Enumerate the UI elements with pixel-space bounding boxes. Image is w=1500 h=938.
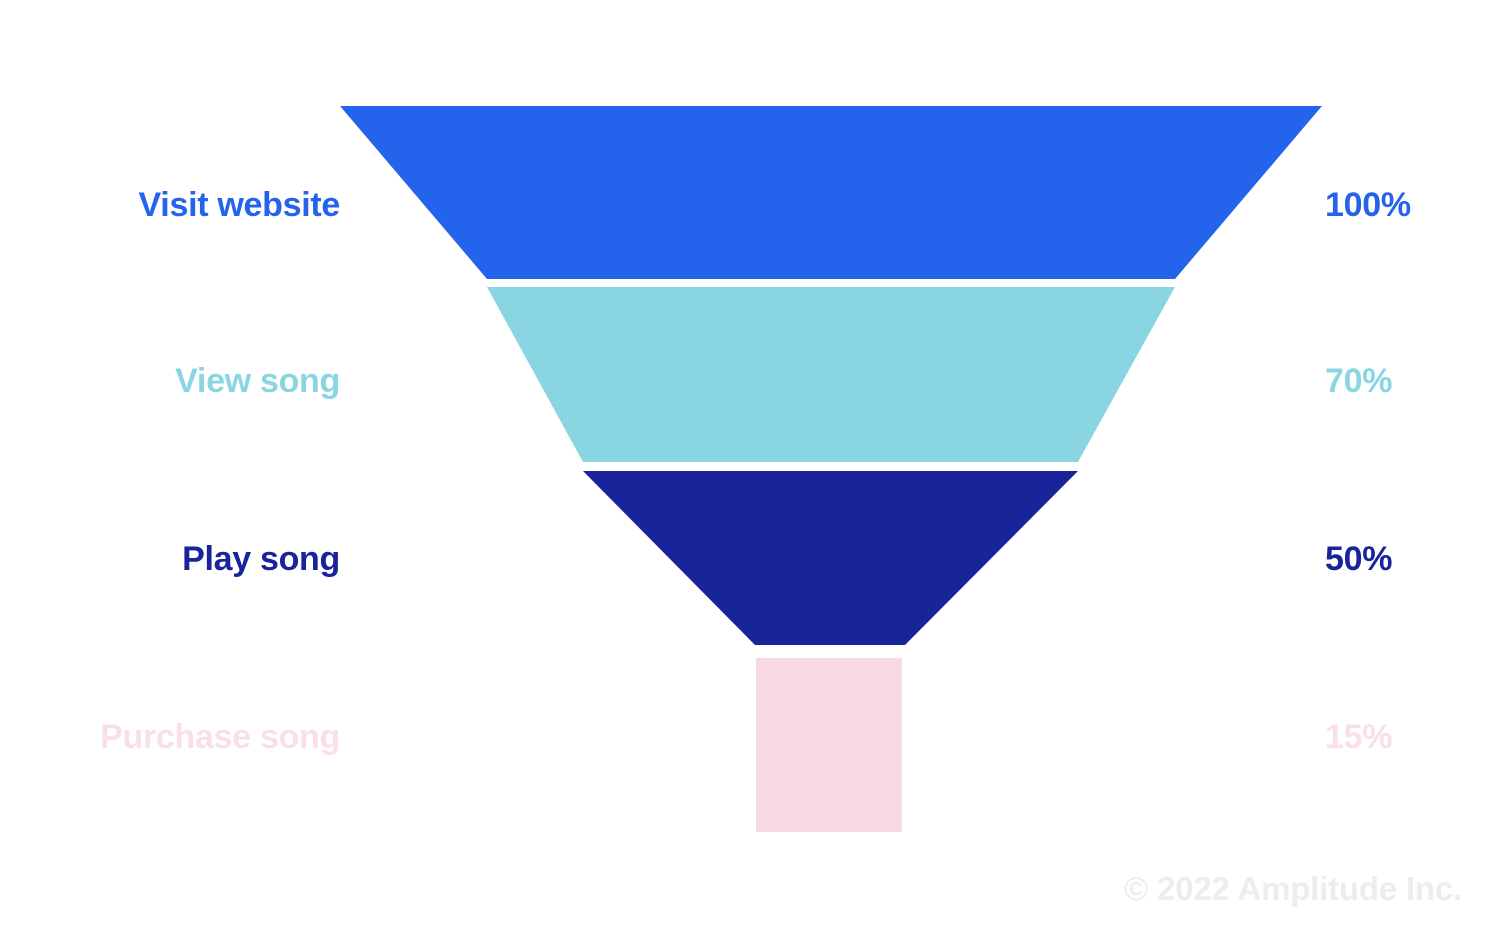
- funnel-chart-canvas: Visit website View song Play song Purcha…: [0, 0, 1500, 938]
- stage-label-visit-website: Visit website: [139, 188, 340, 222]
- value-label-purchase-song: 15%: [1325, 720, 1392, 754]
- value-label-view-song: 70%: [1325, 364, 1392, 398]
- stage-label-view-song: View song: [175, 364, 340, 398]
- stage-label-purchase-song: Purchase song: [100, 720, 340, 754]
- funnel-segment-visit-website[interactable]: [340, 106, 1322, 279]
- funnel-segment-view-song[interactable]: [487, 287, 1175, 462]
- stage-label-play-song: Play song: [182, 542, 340, 576]
- copyright-credit: © 2022 Amplitude Inc.: [1124, 870, 1462, 908]
- funnel-segment-play-song[interactable]: [583, 471, 1078, 645]
- funnel-segment-purchase-song[interactable]: [756, 658, 902, 832]
- value-label-play-song: 50%: [1325, 542, 1392, 576]
- value-label-visit-website: 100%: [1325, 188, 1411, 222]
- funnel-graphic: [0, 0, 1500, 938]
